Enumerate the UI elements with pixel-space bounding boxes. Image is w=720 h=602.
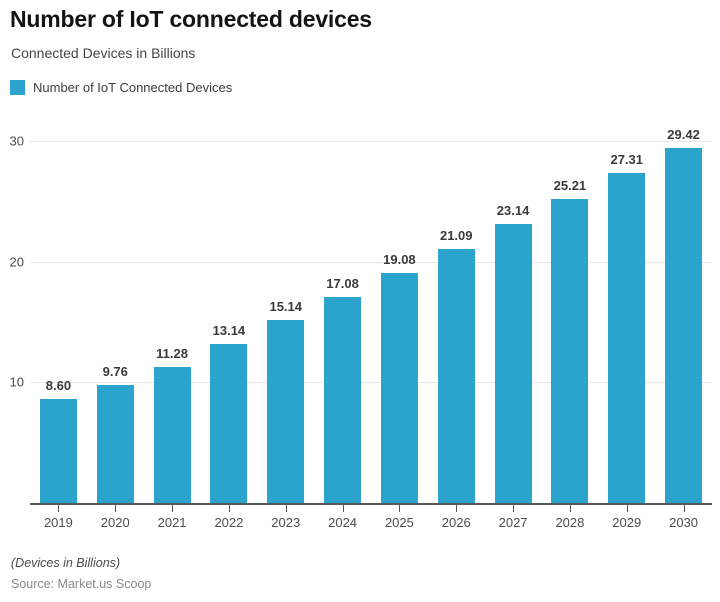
x-axis-tick-label: 2021: [158, 515, 187, 530]
x-axis-tick-mark: [229, 505, 230, 512]
bar-value-label: 8.60: [46, 378, 71, 393]
x-axis-tick-mark: [456, 505, 457, 512]
y-axis-tick-label: 30: [0, 134, 24, 149]
x-axis-tick-label: 2030: [669, 515, 698, 530]
bar-value-label: 19.08: [383, 252, 416, 267]
x-axis-tick-label: 2023: [271, 515, 300, 530]
bar-value-label: 15.14: [269, 299, 302, 314]
bar-value-label: 25.21: [554, 178, 587, 193]
bar-value-label: 29.42: [667, 127, 700, 142]
bar[interactable]: [267, 320, 304, 503]
bar-value-label: 13.14: [213, 323, 246, 338]
bar-value-label: 11.28: [156, 346, 188, 361]
bar-value-label: 17.08: [326, 276, 359, 291]
bar[interactable]: [154, 367, 191, 503]
footer-note: (Devices in Billions): [11, 556, 151, 570]
x-axis-tick-mark: [115, 505, 116, 512]
x-axis-tick-mark: [684, 505, 685, 512]
x-axis-tick-label: 2025: [385, 515, 414, 530]
x-axis-tick-label: 2027: [499, 515, 528, 530]
y-axis-tick-label: 20: [0, 254, 24, 269]
bar[interactable]: [381, 273, 418, 503]
bar[interactable]: [665, 148, 702, 503]
bar[interactable]: [495, 224, 532, 503]
plot-area: 102030 8.609.7611.2813.1415.1417.0819.08…: [0, 0, 720, 540]
chart-card: Number of IoT connected devices Connecte…: [0, 0, 720, 602]
x-axis-tick-mark: [343, 505, 344, 512]
bar-value-label: 21.09: [440, 228, 473, 243]
x-axis-tick-mark: [58, 505, 59, 512]
x-axis-tick-label: 2024: [328, 515, 357, 530]
x-axis-tick-label: 2026: [442, 515, 471, 530]
bar-value-label: 23.14: [497, 203, 530, 218]
bar[interactable]: [551, 199, 588, 503]
bar[interactable]: [438, 249, 475, 503]
bar[interactable]: [608, 173, 645, 503]
x-axis-tick-mark: [172, 505, 173, 512]
bar[interactable]: [210, 344, 247, 503]
bar[interactable]: [40, 399, 77, 503]
bar[interactable]: [324, 297, 361, 503]
footer-source: Source: Market.us Scoop: [11, 577, 151, 591]
x-axis-tick-label: 2020: [101, 515, 130, 530]
x-axis-tick-mark: [627, 505, 628, 512]
x-axis-tick-mark: [513, 505, 514, 512]
bar[interactable]: [97, 385, 134, 503]
x-axis-tick-mark: [399, 505, 400, 512]
bar-value-label: 27.31: [610, 152, 643, 167]
x-axis-tick-label: 2028: [555, 515, 584, 530]
x-axis-tick-label: 2029: [612, 515, 641, 530]
bar-value-label: 9.76: [103, 364, 128, 379]
chart-footer: (Devices in Billions) Source: Market.us …: [11, 556, 151, 591]
gridline: [30, 141, 712, 142]
y-axis-tick-label: 10: [0, 375, 24, 390]
x-axis-line: [30, 503, 712, 505]
x-axis-tick-mark: [286, 505, 287, 512]
x-axis-tick-label: 2022: [214, 515, 243, 530]
x-axis-tick-label: 2019: [44, 515, 73, 530]
x-axis-tick-mark: [570, 505, 571, 512]
